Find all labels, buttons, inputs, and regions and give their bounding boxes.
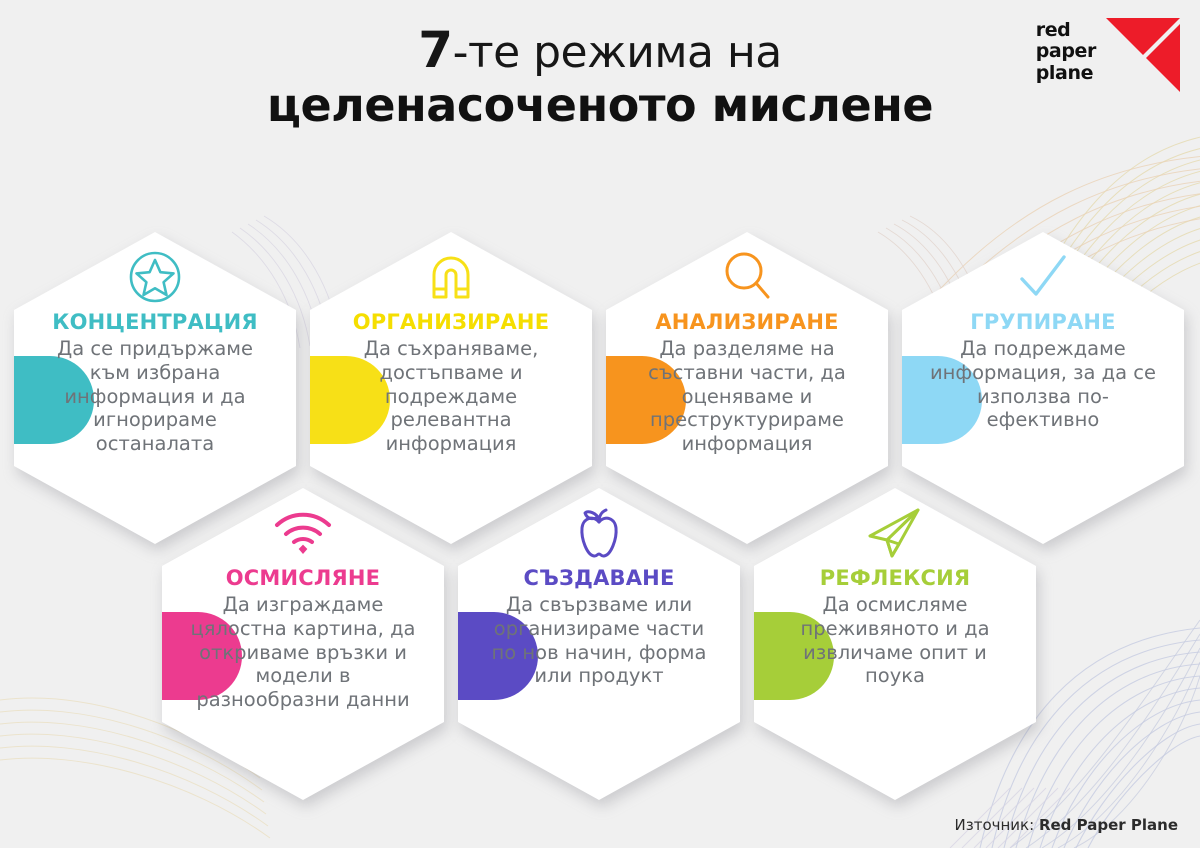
logo-line-2: paper [1036,41,1096,62]
hex-title: РЕФЛЕКСИЯ [820,566,970,590]
title-line-2: целенасоченото мислене [0,82,1200,130]
page-title: 7-те режима на целенасоченото мислене [0,24,1200,130]
magnifier-icon [721,246,773,308]
hex-description: Да осмисляме преживяното и да извличаме … [780,593,1010,688]
hex-description: Да се придържаме към избрана информация … [40,337,270,456]
hex-title: ОРГАНИЗИРАНЕ [353,310,550,334]
logo-line-3: plane [1036,63,1096,84]
hex-title: КОНЦЕНТРАЦИЯ [52,310,258,334]
hex-title: ОСМИСЛЯНЕ [226,566,380,590]
hex-title: АНАЛИЗИРАНЕ [655,310,838,334]
paper-plane-triangle-icon [1102,16,1182,94]
paper-plane-icon [866,502,924,564]
hex-card-osmislyane[interactable]: ОСМИСЛЯНЕ Да изграждаме цялостна картина… [158,484,448,804]
hex-description: Да изграждаме цялостна картина, да откри… [188,593,418,712]
logo-line-1: red [1036,20,1096,41]
hex-description: Да разделяме на съставни части, да оценя… [632,337,862,456]
source-brand: Red Paper Plane [1039,816,1178,834]
wifi-icon [273,502,333,564]
checkmark-icon [1016,246,1070,308]
title-line-1: 7-те режима на [0,24,1200,76]
apple-icon [573,502,625,564]
hex-description: Да подреждаме информация, за да се изпол… [928,337,1158,432]
source-label: Източник: [955,816,1035,834]
hex-description: Да свързваме или организираме части по н… [484,593,714,688]
hex-title: ГРУПИРАНЕ [970,310,1115,334]
hex-content: СЪЗДАВАНЕ Да свързваме или организираме … [454,484,744,804]
source-attribution: Източник: Red Paper Plane [955,816,1178,834]
title-line-1-rest: -те режима на [453,27,782,78]
logo-wordmark: red paper plane [1036,16,1096,84]
header: 7-те режима на целенасоченото мислене [0,0,1200,170]
brand-logo[interactable]: red paper plane [1036,16,1182,94]
hex-card-refleksiya[interactable]: РЕФЛЕКСИЯ Да осмисляме преживяното и да … [750,484,1040,804]
hex-description: Да съхраняваме, достъпваме и подреждаме … [336,337,566,456]
title-number: 7 [418,21,452,79]
star-in-circle-icon [127,246,183,308]
hex-content: РЕФЛЕКСИЯ Да осмисляме преживяното и да … [750,484,1040,804]
magnet-icon [426,246,476,308]
hex-card-sazdavane[interactable]: СЪЗДАВАНЕ Да свързваме или организираме … [454,484,744,804]
hex-title: СЪЗДАВАНЕ [524,566,675,590]
hex-content: ОСМИСЛЯНЕ Да изграждаме цялостна картина… [158,484,448,804]
